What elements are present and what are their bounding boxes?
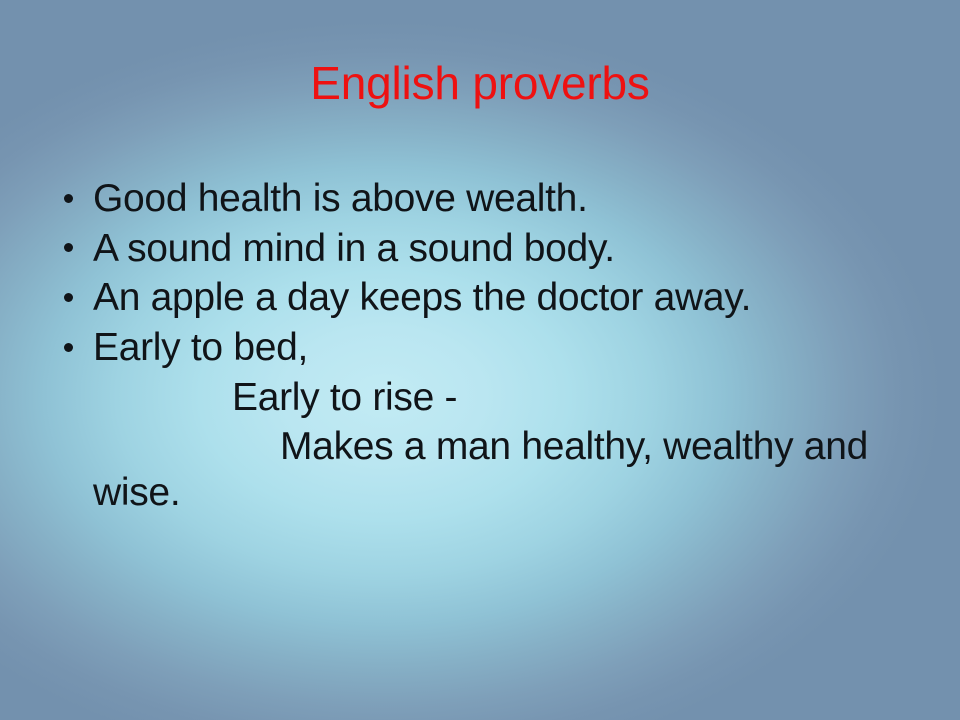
slide-canvas: English proverbs Good health is above we… (0, 0, 960, 720)
list-item-label: Good health is above wealth. (93, 177, 588, 220)
bullet-dot-icon (64, 243, 73, 252)
list-item: Good health is above wealth. (56, 176, 936, 222)
list-item: A sound mind in a sound body. (56, 226, 936, 272)
slide-body-container: Good health is above wealth. A sound min… (56, 176, 936, 519)
page-title: English proverbs (310, 58, 649, 110)
bullet-dot-icon (64, 343, 73, 352)
slide-title-container: English proverbs (0, 58, 960, 110)
proverb-bullet-list: Good health is above wealth. A sound min… (56, 176, 936, 371)
list-item-label: A sound mind in a sound body. (93, 227, 615, 270)
list-item-label: An apple a day keeps the doctor away. (93, 276, 751, 319)
bullet-dot-icon (64, 194, 73, 203)
list-item: Early to bed, (56, 325, 936, 371)
list-item-label: Early to bed, (93, 326, 308, 369)
list-item: An apple a day keeps the doctor away. (56, 275, 936, 321)
bullet-dot-icon (64, 293, 73, 302)
continuation-line: Early to rise - (56, 375, 936, 421)
continuation-line: Makes a man healthy, wealthy and wise. (56, 424, 936, 515)
